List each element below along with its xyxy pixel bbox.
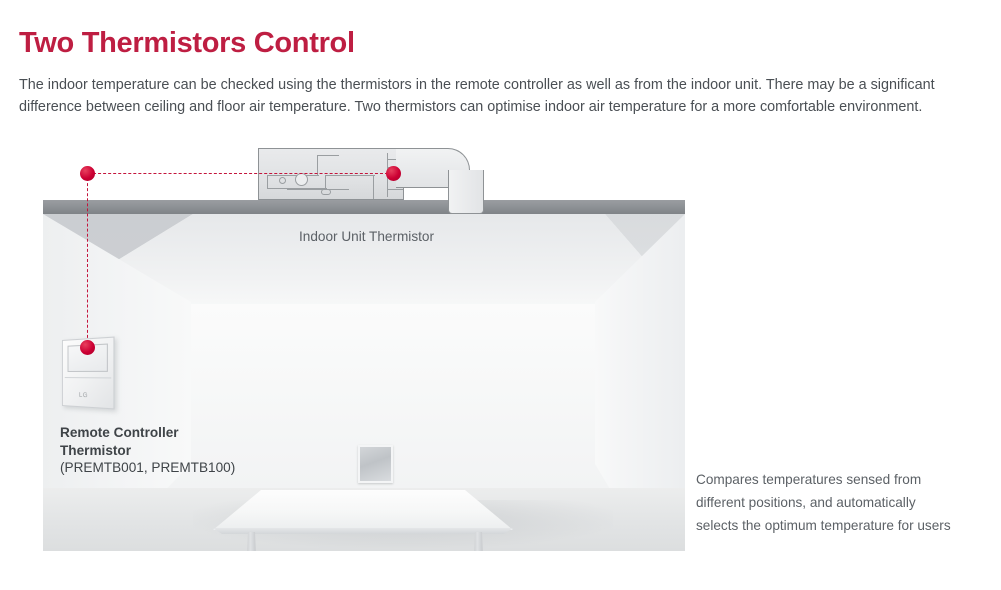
connector-line-vertical (87, 173, 88, 348)
ducted-indoor-unit (258, 148, 404, 200)
feature-description-note: Compares temperatures sensed from differ… (696, 468, 956, 537)
indoor-unit-thermistor-caption: Indoor Unit Thermistor (299, 229, 434, 244)
remote-caption-line-1: Remote Controller (60, 424, 280, 442)
thermistor-diagram: LG Indoor Unit Thermistor Remote Control… (0, 140, 1001, 560)
wall-monitor (358, 445, 393, 483)
unit-fan-large (295, 173, 308, 186)
unit-detail-line (325, 175, 375, 176)
unit-detail-line (287, 189, 349, 190)
remote-controller-thermistor-caption: Remote Controller Thermistor (PREMTB001,… (60, 424, 280, 477)
unit-port (321, 189, 331, 195)
unit-detail-line (317, 155, 339, 156)
conference-table-edge (213, 528, 513, 534)
unit-detail-line (373, 175, 374, 199)
lg-logo: LG (79, 393, 93, 400)
conference-room-image (43, 200, 685, 551)
indoor-unit-thermistor-marker (386, 166, 401, 181)
unit-detail-line (267, 175, 268, 189)
remote-model-codes: (PREMTB001, PREMTB100) (60, 459, 280, 477)
page-title: Two Thermistors Control (19, 27, 355, 60)
duct-elbow (396, 148, 488, 214)
duct-vertical (448, 170, 484, 214)
remote-controller-thermistor-marker (80, 340, 95, 355)
unit-fan-small (279, 177, 286, 184)
unit-detail-line (325, 175, 326, 189)
conference-table-top (213, 490, 513, 530)
intro-paragraph: The indoor temperature can be checked us… (19, 74, 965, 118)
remote-caption-line-2: Thermistor (60, 442, 280, 460)
connector-line-horizontal (88, 173, 388, 174)
ceiling-band (43, 200, 685, 214)
unit-detail-line (267, 175, 319, 176)
connector-corner-marker (80, 166, 95, 181)
